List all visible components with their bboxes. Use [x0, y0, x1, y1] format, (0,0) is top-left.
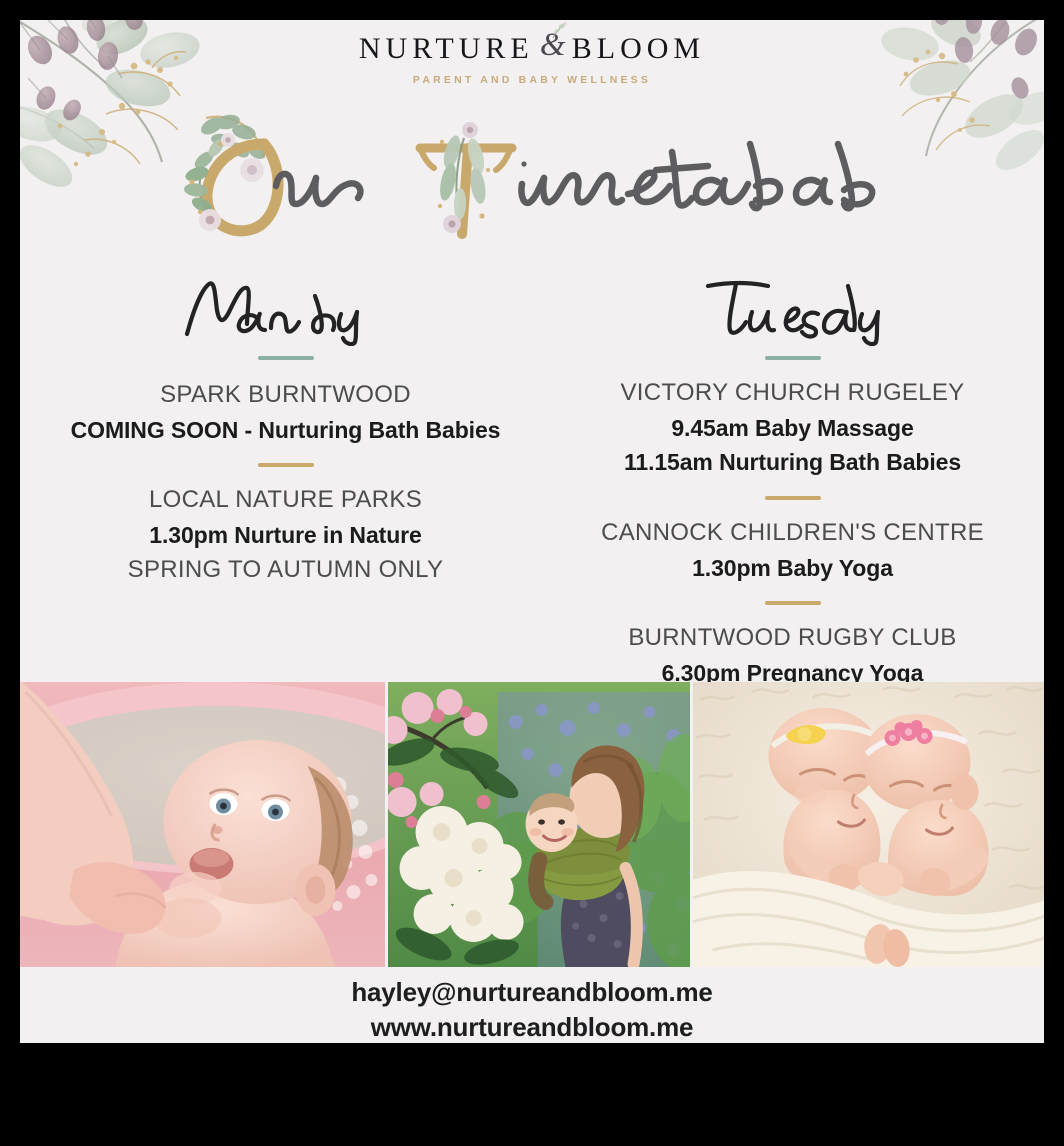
contact-website[interactable]: www.nurtureandbloom.me — [20, 1010, 1044, 1043]
contact-footer: hayley@nurtureandbloom.me www.nurtureand… — [20, 975, 1044, 1043]
contact-email[interactable]: hayley@nurtureandbloom.me — [20, 975, 1044, 1010]
day-heading-monday: Monday — [171, 272, 401, 346]
timetable-columns: Monday SPARK BURNTWOOD COMING SOON - Nur… — [20, 272, 1044, 690]
brand-logo: NURTURE & BLOOM PARENT AND BABY WELLNESS — [20, 32, 1044, 86]
ampersand-sprig-icon — [549, 21, 569, 41]
day-heading-tuesday: Tuesday — [688, 272, 898, 346]
photo-babywearing-nature: Woman babywearing a baby in a green slin… — [388, 682, 690, 967]
page-title-artwork: Our Timetable — [152, 108, 912, 248]
session-entry: COMING SOON - Nurturing Bath Babies — [46, 413, 525, 448]
session-note: SPRING TO AUTUMN ONLY — [46, 553, 525, 588]
session-entry: 1.30pm Baby Yoga — [553, 551, 1032, 586]
poster-canvas: NURTURE & BLOOM PARENT AND BABY WELLNESS… — [0, 0, 1064, 1146]
session-block: LOCAL NATURE PARKS 1.30pm Nurture in Nat… — [46, 483, 525, 587]
venue-name: SPARK BURNTWOOD — [46, 378, 525, 413]
venue-name: LOCAL NATURE PARKS — [46, 483, 525, 518]
session-entry: 9.45am Baby Massage — [553, 411, 1032, 446]
venue-name: VICTORY CHURCH RUGELEY — [553, 376, 1032, 411]
session-block: BURNTWOOD RUGBY CLUB 6.30pm Pregnancy Yo… — [553, 621, 1032, 690]
photo-strip: Baby being bathed in a pink baby bath he… — [20, 682, 1044, 967]
block-divider-gold — [765, 601, 821, 605]
venue-name: BURNTWOOD RUGBY CLUB — [553, 621, 1032, 656]
day-column-tuesday: Tuesday VICTO — [539, 272, 1044, 690]
session-block: CANNOCK CHILDREN'S CENTRE 1.30pm Baby Yo… — [553, 516, 1032, 585]
brand-wordmark: NURTURE & BLOOM — [359, 32, 705, 66]
brand-name-part2: BLOOM — [572, 33, 705, 65]
brand-ampersand-ornament: & — [536, 32, 570, 66]
brand-tagline: PARENT AND BABY WELLNESS — [20, 74, 1044, 86]
session-block: SPARK BURNTWOOD COMING SOON - Nurturing … — [46, 378, 525, 447]
venue-name: CANNOCK CHILDREN'S CENTRE — [553, 516, 1032, 551]
session-block: VICTORY CHURCH RUGELEY 9.45am Baby Massa… — [553, 376, 1032, 480]
poster-card: NURTURE & BLOOM PARENT AND BABY WELLNESS… — [20, 20, 1044, 1043]
session-entry: 1.30pm Nurture in Nature — [46, 518, 525, 553]
brand-name-part1: NURTURE — [359, 33, 534, 65]
page-title: Our Timetable — [20, 108, 1044, 248]
block-divider-gold — [765, 496, 821, 500]
photo-baby-bath: Baby being bathed in a pink baby bath he… — [20, 682, 385, 967]
day-column-monday: Monday SPARK BURNTWOOD COMING SOON - Nur… — [20, 272, 539, 690]
block-divider-gold — [258, 463, 314, 467]
session-entry: 11.15am Nurturing Bath Babies — [553, 445, 1032, 480]
photo-newborn-twins: Newborn twins asleep on a cream fur rug … — [693, 682, 1044, 967]
